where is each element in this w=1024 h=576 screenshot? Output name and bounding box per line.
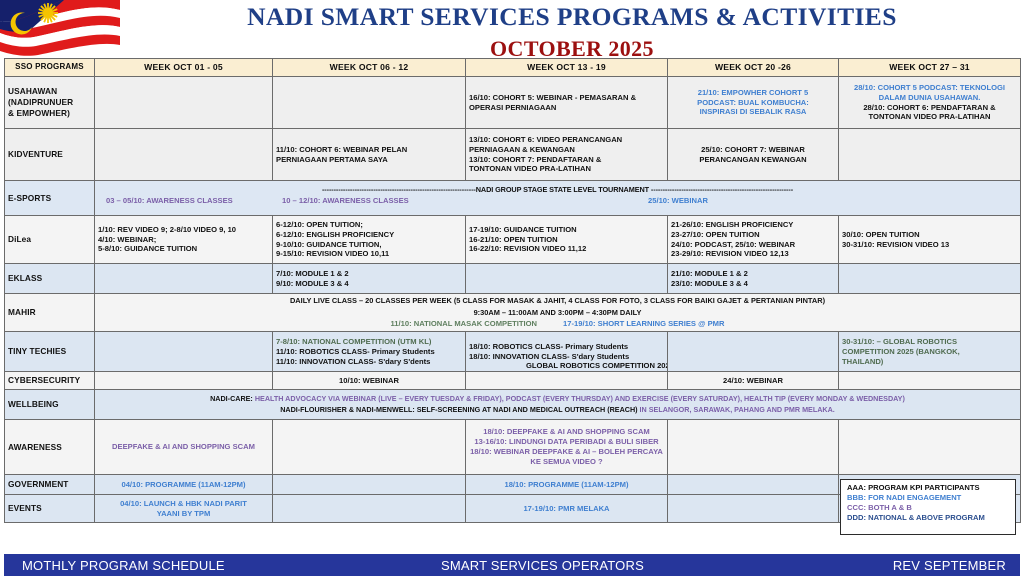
cell-tinytechies-week3: 18/10: ROBOTICS CLASS- Primary Students …: [466, 332, 668, 372]
table-row-wellbeing: WELLBEING NADI-CARE: HEALTH ADVOCACY VIA…: [5, 390, 1021, 420]
row-label-events: EVENTS: [5, 495, 95, 523]
cell-eklass-week5: [839, 264, 1021, 294]
column-header-week1: WEEK OCT 01 - 05: [95, 59, 273, 77]
cell-awareness-week2: [273, 420, 466, 475]
legend-box: AAA: PROGRAM KPI PARTICIPANTS BBB: FOR N…: [840, 479, 1016, 535]
cell-line: 18/10: INNOVATION CLASS- S'dary Students: [469, 352, 664, 362]
nadi-care-detail: HEALTH ADVOCACY VIA WEBINAR (LIVE – EVER…: [255, 394, 905, 403]
nadi-care-label: NADI-CARE:: [210, 394, 253, 403]
cell-line: 30/10: OPEN TUITION: [842, 230, 1017, 240]
cell-line: 18/10: DEEPFAKE & AI AND SHOPPING SCAM: [469, 427, 664, 437]
cell-dilea-week5: 30/10: OPEN TUITION 30-31/10: REVISION V…: [839, 216, 1021, 264]
cell-kidventure-week4: 25/10: COHORT 7: WEBINAR PERANCANGAN KEW…: [668, 129, 839, 181]
legend-item-ddd: DDD: NATIONAL & ABOVE PROGRAM: [847, 513, 1009, 523]
cell-government-week2: [273, 475, 466, 495]
cell-tinytechies-week1: [95, 332, 273, 372]
title-block: NADI SMART SERVICES PROGRAMS & ACTIVITIE…: [120, 2, 1024, 62]
cell-kidventure-week5: [839, 129, 1021, 181]
column-header-week5: WEEK OCT 27 – 31: [839, 59, 1021, 77]
cell-line: 11/10: INNOVATION CLASS- S'dary S'dents: [276, 357, 462, 367]
cell-line: PERANCANGAN KEWANGAN: [671, 155, 835, 165]
row-label-government: GOVERNMENT: [5, 475, 95, 495]
cell-line: 04/10: LAUNCH & HBK NADI PARIT: [98, 499, 269, 509]
cell-line: 9-15/10: REVISION VIDEO 10,11: [276, 249, 462, 259]
cell-line: 6-12/10: ENGLISH PROFICIENCY: [276, 230, 462, 240]
cell-line: 16-21/10: OPEN TUITION: [469, 235, 664, 245]
cell-dilea-week3: 17-19/10: GUIDANCE TUITION 16-21/10: OPE…: [466, 216, 668, 264]
cell-line: 28/10: COHORT 6: PENDAFTARAN &: [842, 103, 1017, 113]
cell-events-week1: 04/10: LAUNCH & HBK NADI PARIT YAANI BY …: [95, 495, 273, 523]
mahir-line-1: DAILY LIVE CLASS – 20 CLASSES PER WEEK (…: [98, 296, 1017, 306]
mahir-line-2: 9:30AM – 11:00AM AND 3:00PM – 4:30PM DAI…: [98, 308, 1017, 318]
cell-esports-week4: 25/10: WEBINAR: [469, 196, 1017, 206]
cell-line: 11/10: COHORT 6: WEBINAR PELAN: [276, 145, 462, 155]
footer-left: MOTHLY PROGRAM SCHEDULE: [4, 558, 349, 573]
cell-line: 23/10: MODULE 3 & 4: [671, 279, 835, 289]
footer-center: SMART SERVICES OPERATORS: [349, 558, 735, 573]
cell-line: 30-31/10: – GLOBAL ROBOTICS: [842, 337, 1017, 347]
malaysia-flag-icon: [0, 0, 120, 62]
cell-dilea-week4: 21-26/10: ENGLISH PROFICIENCY 23-27/10: …: [668, 216, 839, 264]
nadi-flourisher-label: NADI-FLOURISHER & NADI-MENWELL: SELF-SCR…: [280, 405, 637, 414]
row-label-awareness: AWARENESS: [5, 420, 95, 475]
cell-usahawan-week2: [273, 77, 466, 129]
cell-line: 17-19/10: GUIDANCE TUITION: [469, 225, 664, 235]
column-header-week4: WEEK OCT 20 -26: [668, 59, 839, 77]
row-label-eklass: EKLASS: [5, 264, 95, 294]
esports-tournament-banner: ----------------------------------------…: [98, 183, 1017, 194]
table-row-awareness: AWARENESS DEEPFAKE & AI AND SHOPPING SCA…: [5, 420, 1021, 475]
cell-eklass-week1: [95, 264, 273, 294]
cell-esports-week2: 10 – 12/10: AWARENESS CLASSES: [276, 196, 469, 206]
mahir-national-masak-competition: 11/10: NATIONAL MASAK COMPETITION: [391, 319, 538, 329]
table-row-kidventure: KIDVENTURE 11/10: COHORT 6: WEBINAR PELA…: [5, 129, 1021, 181]
row-label-kidventure: KIDVENTURE: [5, 129, 95, 181]
cell-line: 18/10: ROBOTICS CLASS- Primary Students: [469, 342, 664, 352]
column-header-week3: WEEK OCT 13 - 19: [466, 59, 668, 77]
slide-root: NADI SMART SERVICES PROGRAMS & ACTIVITIE…: [0, 0, 1024, 576]
cell-kidventure-week2: 11/10: COHORT 6: WEBINAR PELAN PERNIAGAA…: [273, 129, 466, 181]
table-row-tinytechies: TINY TECHIES 7-8/10: NATIONAL COMPETITIO…: [5, 332, 1021, 372]
cell-tinytechies-week2: 7-8/10: NATIONAL COMPETITION (UTM KL) 11…: [273, 332, 466, 372]
row-label-line: USAHAWAN: [8, 86, 91, 97]
footer-right: REV SEPTEMBER: [736, 558, 1020, 573]
cell-line: 13-16/10: LINDUNGI DATA PERIBADI & BULI …: [469, 437, 664, 447]
column-header-sso: SSO PROGRAMS: [5, 59, 95, 77]
cell-line: TONTONAN VIDEO PRA-LATIHAN: [842, 112, 1017, 122]
mahir-short-learning-series: 17-19/10: SHORT LEARNING SERIES @ PMR: [563, 319, 724, 329]
cell-usahawan-week3: 16/10: COHORT 5: WEBINAR - PEMASARAN & O…: [466, 77, 668, 129]
cell-line: 23-29/10: REVISION VIDEO 12,13: [671, 249, 835, 259]
cell-line: 18/10: WEBINAR DEEPFAKE & AI – BOLEH PER…: [469, 447, 664, 467]
cell-line: 5-8/10: GUIDANCE TUITION: [98, 244, 269, 254]
row-label-mahir: MAHIR: [5, 294, 95, 332]
row-label-line: & EMPOWHER): [8, 108, 91, 119]
cell-line: COMPETITION 2025 (BANGKOK,: [842, 347, 1017, 357]
cell-events-week3: 17-19/10: PMR MELAKA: [466, 495, 668, 523]
cell-line: 16/10: COHORT 5: WEBINAR - PEMASARAN &: [469, 93, 664, 103]
cell-awareness-week5: [839, 420, 1021, 475]
cell-line: 23-27/10: OPEN TUITION: [671, 230, 835, 240]
cell-wellbeing-banner: NADI-CARE: HEALTH ADVOCACY VIA WEBINAR (…: [95, 390, 1021, 420]
cell-usahawan-week5: 28/10: COHORT 5 PODCAST: TEKNOLOGI DALAM…: [839, 77, 1021, 129]
cell-cybersecurity-week3: [466, 372, 668, 390]
cell-line: THAILAND): [842, 357, 1017, 367]
cell-line: PODCAST: BUAL KOMBUCHA:: [671, 98, 835, 108]
nadi-flourisher-detail: IN SELANGOR, SARAWAK, PAHANG AND PMR MEL…: [640, 405, 835, 414]
cell-eklass-week2: 7/10: MODULE 1 & 2 9/10: MODULE 3 & 4: [273, 264, 466, 294]
cell-line: 21-26/10: ENGLISH PROFICIENCY: [671, 220, 835, 230]
table-row-eklass: EKLASS 7/10: MODULE 1 & 2 9/10: MODULE 3…: [5, 264, 1021, 294]
cell-esports-banner: ----------------------------------------…: [95, 181, 1021, 216]
cell-line-global-checkin: GLOBAL ROBOTICS COMPETITION 2025 ONLINE …: [526, 361, 668, 371]
cell-line: 9-10/10: GUIDANCE TUITION,: [276, 240, 462, 250]
page-title: NADI SMART SERVICES PROGRAMS & ACTIVITIE…: [120, 2, 1024, 32]
row-label-usahawan: USAHAWAN (NADIPRUNUER & EMPOWHER): [5, 77, 95, 129]
footer-bar: MOTHLY PROGRAM SCHEDULE SMART SERVICES O…: [4, 554, 1020, 576]
cell-usahawan-week1: [95, 77, 273, 129]
row-label-tinytechies: TINY TECHIES: [5, 332, 95, 372]
table-row-mahir: MAHIR DAILY LIVE CLASS – 20 CLASSES PER …: [5, 294, 1021, 332]
cell-line: YAANI BY TPM: [98, 509, 269, 519]
cell-line: 21/10: EMPOWHER COHORT 5: [671, 88, 835, 98]
wellbeing-line-1: NADI-CARE: HEALTH ADVOCACY VIA WEBINAR (…: [98, 394, 1017, 405]
cell-line: 13/10: COHORT 7: PENDAFTARAN &: [469, 155, 664, 165]
row-label-line: (NADIPRUNUER: [8, 97, 91, 108]
cell-line: TONTONAN VIDEO PRA-LATIHAN: [469, 164, 664, 174]
legend-item-bbb: BBB: FOR NADI ENGAGEMENT: [847, 493, 1009, 503]
cell-line: 16-22/10: REVISION VIDEO 11,12: [469, 244, 664, 254]
cell-usahawan-week4: 21/10: EMPOWHER COHORT 5 PODCAST: BUAL K…: [668, 77, 839, 129]
cell-eklass-week3: [466, 264, 668, 294]
cell-line: 28/10: COHORT 5 PODCAST: TEKNOLOGI: [842, 83, 1017, 93]
cell-mahir-banner: DAILY LIVE CLASS – 20 CLASSES PER WEEK (…: [95, 294, 1021, 332]
cell-line: 4/10: WEBINAR;: [98, 235, 269, 245]
cell-cybersecurity-week1: [95, 372, 273, 390]
cell-cybersecurity-week2: 10/10: WEBINAR: [273, 372, 466, 390]
cell-line: 7/10: MODULE 1 & 2: [276, 269, 462, 279]
cell-cybersecurity-week4: 24/10: WEBINAR: [668, 372, 839, 390]
cell-line: PERNIAGAAN PERTAMA SAYA: [276, 155, 462, 165]
cell-line: 11/10: ROBOTICS CLASS- Primary Students: [276, 347, 462, 357]
cell-government-week1: 04/10: PROGRAMME (11AM-12PM): [95, 475, 273, 495]
cell-cybersecurity-week5: [839, 372, 1021, 390]
legend-item-ccc: CCC: BOTH A & B: [847, 503, 1009, 513]
cell-dilea-week1: 1/10: REV VIDEO 9; 2-8/10 VIDEO 9, 10 4/…: [95, 216, 273, 264]
cell-events-week4: [668, 495, 839, 523]
cell-line: 24/10: PODCAST, 25/10: WEBINAR: [671, 240, 835, 250]
cell-line: OPERASI PERNIAGAAN: [469, 103, 664, 113]
cell-awareness-week3: 18/10: DEEPFAKE & AI AND SHOPPING SCAM 1…: [466, 420, 668, 475]
cell-awareness-week4: [668, 420, 839, 475]
cell-tinytechies-week5: 30-31/10: – GLOBAL ROBOTICS COMPETITION …: [839, 332, 1021, 372]
table-row-usahawan: USAHAWAN (NADIPRUNUER & EMPOWHER) 16/10:…: [5, 77, 1021, 129]
cell-dilea-week2: 6-12/10: OPEN TUITION; 6-12/10: ENGLISH …: [273, 216, 466, 264]
table-row-dilea: DiLea 1/10: REV VIDEO 9; 2-8/10 VIDEO 9,…: [5, 216, 1021, 264]
column-header-week2: WEEK OCT 06 - 12: [273, 59, 466, 77]
table-row-cybersecurity: CYBERSECURITY 10/10: WEBINAR 24/10: WEBI…: [5, 372, 1021, 390]
cell-line: INSPIRASI DI SEBALIK RASA: [671, 107, 835, 117]
schedule-table: SSO PROGRAMS WEEK OCT 01 - 05 WEEK OCT 0…: [4, 58, 1021, 523]
row-label-cybersecurity: CYBERSECURITY: [5, 372, 95, 390]
row-label-dilea: DiLea: [5, 216, 95, 264]
cell-line: PERNIAGAAN & KEWANGAN: [469, 145, 664, 155]
wellbeing-line-2: NADI-FLOURISHER & NADI-MENWELL: SELF-SCR…: [98, 405, 1017, 416]
cell-line: 13/10: COHORT 6: VIDEO PERANCANGAN: [469, 135, 664, 145]
cell-events-week2: [273, 495, 466, 523]
cell-tinytechies-week4: [668, 332, 839, 372]
row-label-wellbeing: WELLBEING: [5, 390, 95, 420]
cell-line: 1/10: REV VIDEO 9; 2-8/10 VIDEO 9, 10: [98, 225, 269, 235]
row-label-esports: E-SPORTS: [5, 181, 95, 216]
cell-line: DALAM DUNIA USAHAWAN.: [842, 93, 1017, 103]
cell-line: 6-12/10: OPEN TUITION;: [276, 220, 462, 230]
cell-kidventure-week3: 13/10: COHORT 6: VIDEO PERANCANGAN PERNI…: [466, 129, 668, 181]
cell-esports-week1: 03 – 05/10: AWARENESS CLASSES: [98, 196, 276, 206]
cell-government-week3: 18/10: PROGRAMME (11AM-12PM): [466, 475, 668, 495]
cell-awareness-week1: DEEPFAKE & AI AND SHOPPING SCAM: [95, 420, 273, 475]
cell-line: 25/10: COHORT 7: WEBINAR: [671, 145, 835, 155]
table-row-esports: E-SPORTS -------------------------------…: [5, 181, 1021, 216]
cell-line: 7-8/10: NATIONAL COMPETITION (UTM KL): [276, 337, 462, 347]
cell-line: 30-31/10: REVISION VIDEO 13: [842, 240, 1017, 250]
cell-government-week4: [668, 475, 839, 495]
cell-line: 21/10: MODULE 1 & 2: [671, 269, 835, 279]
table-header-row: SSO PROGRAMS WEEK OCT 01 - 05 WEEK OCT 0…: [5, 59, 1021, 77]
cell-kidventure-week1: [95, 129, 273, 181]
legend-item-aaa: AAA: PROGRAM KPI PARTICIPANTS: [847, 483, 1009, 493]
cell-eklass-week4: 21/10: MODULE 1 & 2 23/10: MODULE 3 & 4: [668, 264, 839, 294]
cell-line: 9/10: MODULE 3 & 4: [276, 279, 462, 289]
